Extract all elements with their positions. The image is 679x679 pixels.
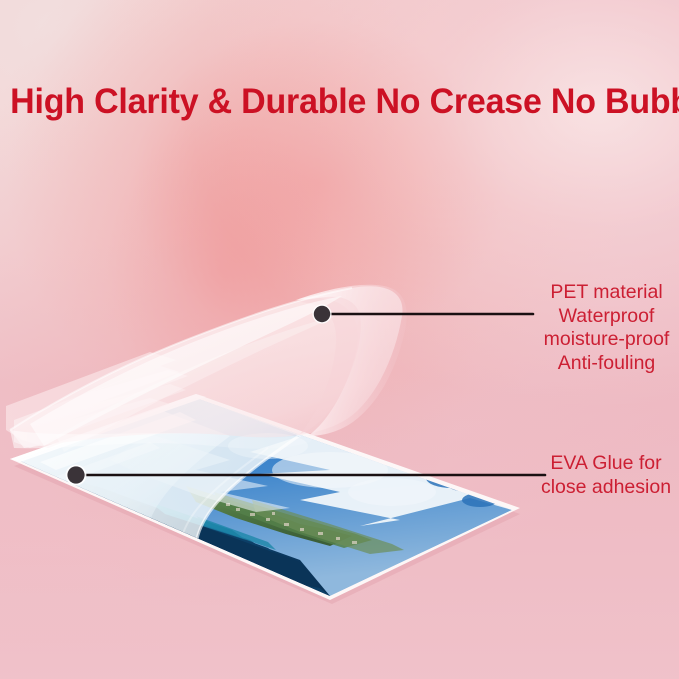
callout-pet-line-1: PET material: [540, 281, 673, 305]
leader-dot-eva: [67, 466, 84, 483]
pet-film-layer: [10, 285, 407, 452]
leader-dot-pet: [314, 306, 330, 322]
callout-eva-line-1: EVA Glue for: [536, 452, 676, 476]
callout-label-eva-glue: EVA Glue for close adhesion: [536, 452, 676, 499]
page-title: High Clarity & Durable No Crease No Bubb…: [10, 84, 669, 119]
callout-label-pet-material: PET material Waterproof moisture-proof A…: [540, 281, 673, 375]
callout-pet-line-4: Anti-fouling: [540, 352, 673, 376]
infographic-canvas: High Clarity & Durable No Crease No Bubb…: [0, 0, 679, 679]
callout-pet-line-2: Waterproof: [540, 305, 673, 329]
callout-eva-line-2: close adhesion: [536, 476, 676, 500]
callout-pet-line-3: moisture-proof: [540, 328, 673, 352]
